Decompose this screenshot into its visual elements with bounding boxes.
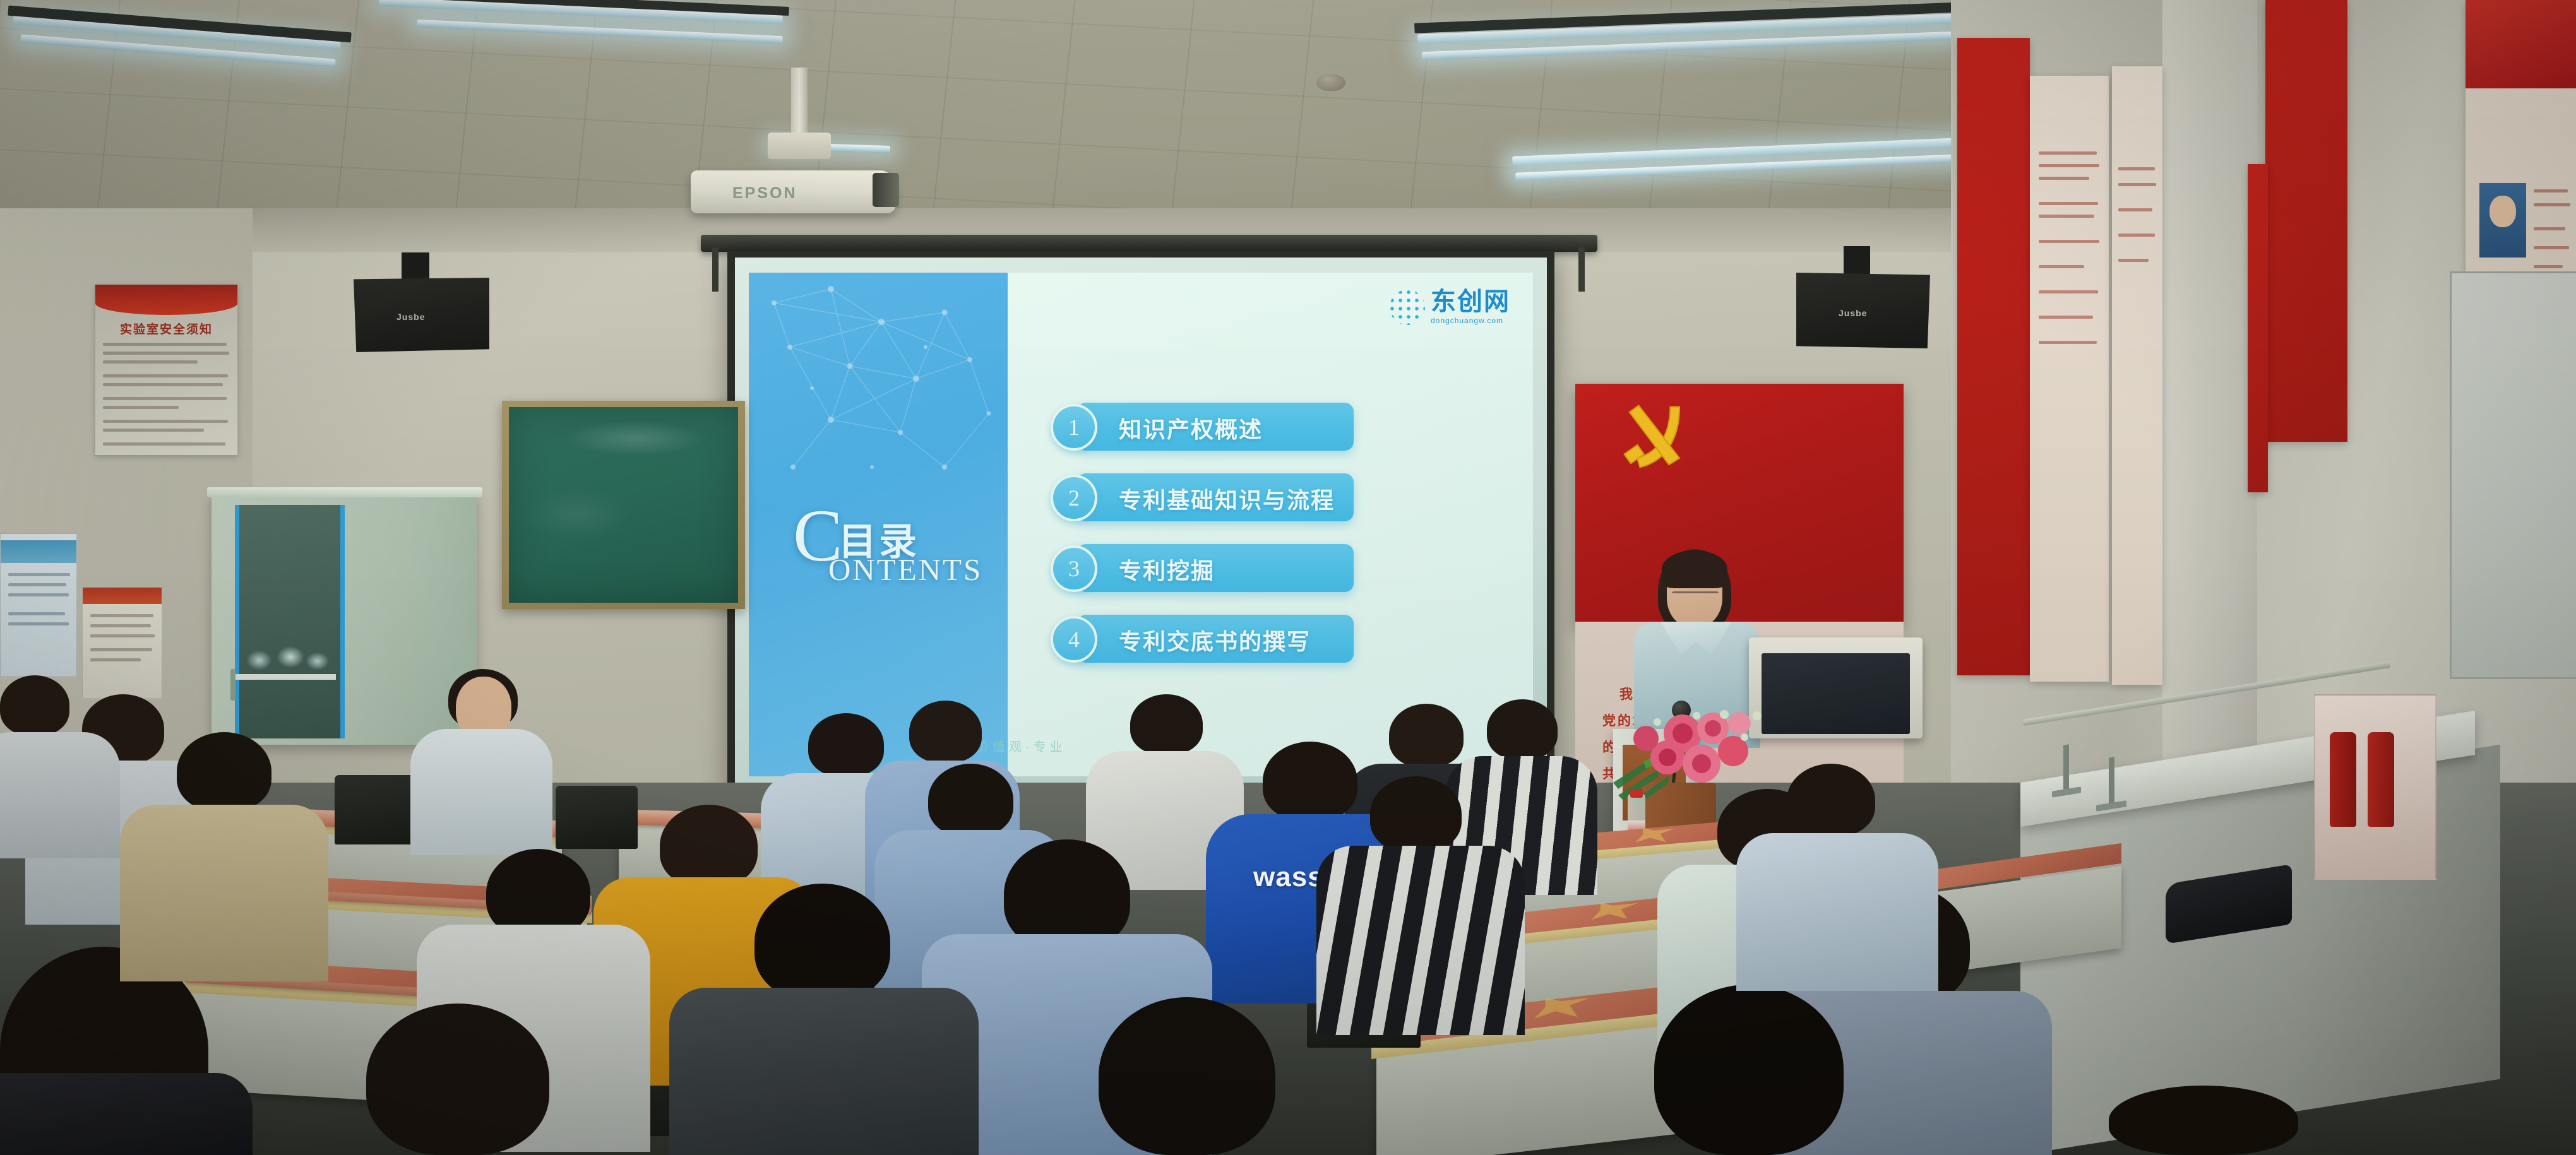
slide-menu-item-4: 4 专利交底书的撰写: [1051, 615, 1354, 663]
slide-right-panel: [1008, 273, 1533, 776]
projector-lens: [873, 173, 899, 207]
slide-menu-item-1: 1 知识产权概述: [1051, 403, 1354, 451]
lab-stand-2: [2109, 757, 2114, 807]
wall-display-panel-3: [2112, 66, 2162, 685]
menu-label: 专利挖掘: [1119, 553, 1215, 586]
menu-number: 4: [1051, 616, 1097, 663]
chalkboard-chalk-smudge: [509, 407, 738, 603]
wall-panel-red-top: [2466, 0, 2576, 88]
hammer-and-sickle-icon: [1616, 398, 1695, 477]
poster-laboratory-safety: 实验室安全须知: [95, 284, 238, 456]
menu-label: 专利交底书的撰写: [1119, 624, 1311, 656]
screen-bracket-right: [1578, 247, 1585, 292]
poster-title: 实验室安全须知: [95, 320, 237, 337]
wall-display-panel-2: [2030, 76, 2109, 682]
poster-header-band: [1, 540, 76, 563]
menu-number: 2: [1051, 475, 1097, 521]
network-decoration-icon: [755, 278, 1008, 511]
fire-extinguisher-2: [2368, 732, 2394, 827]
projector-mount-bracket: [768, 133, 831, 159]
speaker-left-bracket: [402, 252, 429, 280]
presenter-glasses: [1672, 591, 1719, 604]
menu-number: 3: [1051, 545, 1097, 592]
speaker-left-brand-label: Jusbe: [397, 312, 425, 322]
cabinet-handle[interactable]: [230, 669, 236, 701]
bottle-cap: [1630, 789, 1643, 798]
cabinet-shelf: [235, 674, 336, 680]
speaker-right-brand-label: Jusbe: [1839, 308, 1867, 318]
slide-menu-item-2: 2 专利基础知识与流程: [1051, 473, 1354, 521]
lab-stand-1: [2063, 744, 2069, 792]
corridor-window: [2450, 271, 2576, 679]
classroom-photo: EPSON Jusbe Jusbe: [0, 0, 2576, 1155]
slide-logo: 东创网 dongchuangw.com: [1390, 289, 1510, 325]
presentation-slide: C 目录 ONTENTS 东创网 dongchuangw.com 1 知识产权概…: [749, 273, 1533, 776]
menu-label: 知识产权概述: [1119, 412, 1263, 444]
fire-extinguisher-1: [2330, 732, 2356, 827]
projector-mount-pole: [791, 68, 808, 138]
poster-red-header: [82, 587, 162, 699]
cabinet-contents: [241, 631, 331, 673]
screen-bracket-left: [712, 247, 719, 292]
speaker-right-bracket: [1844, 246, 1870, 275]
wall-display-panel-5: [2248, 164, 2268, 492]
poster-header-band: [83, 588, 162, 604]
slide-menu-item-3: 3 专利挖掘: [1051, 544, 1354, 592]
logo-url: dongchuangw.com: [1431, 316, 1510, 325]
menu-label: 专利基础知识与流程: [1119, 482, 1335, 515]
wall-display-panel-4: [2265, 0, 2347, 442]
chair-2[interactable]: [556, 786, 638, 849]
cabinet-top-trim: [207, 487, 482, 497]
presenter-hair-front: [1662, 550, 1727, 588]
cabinet-glass-door[interactable]: [235, 505, 345, 738]
sphere-dots-icon: [1390, 290, 1425, 325]
contents-title-en: ONTENTS: [828, 552, 982, 588]
poster-header-band: [95, 285, 237, 315]
smoke-detector: [1316, 74, 1345, 91]
projector-brand-label: EPSON: [732, 184, 846, 203]
projection-screen-case: [701, 235, 1597, 252]
logo-name-cn: 东创网: [1431, 289, 1510, 314]
menu-number: 1: [1051, 404, 1097, 451]
monitor-screen: [1762, 653, 1910, 734]
poster-blue-info: [0, 533, 77, 677]
wall-display-panel-1: [1957, 38, 2030, 675]
